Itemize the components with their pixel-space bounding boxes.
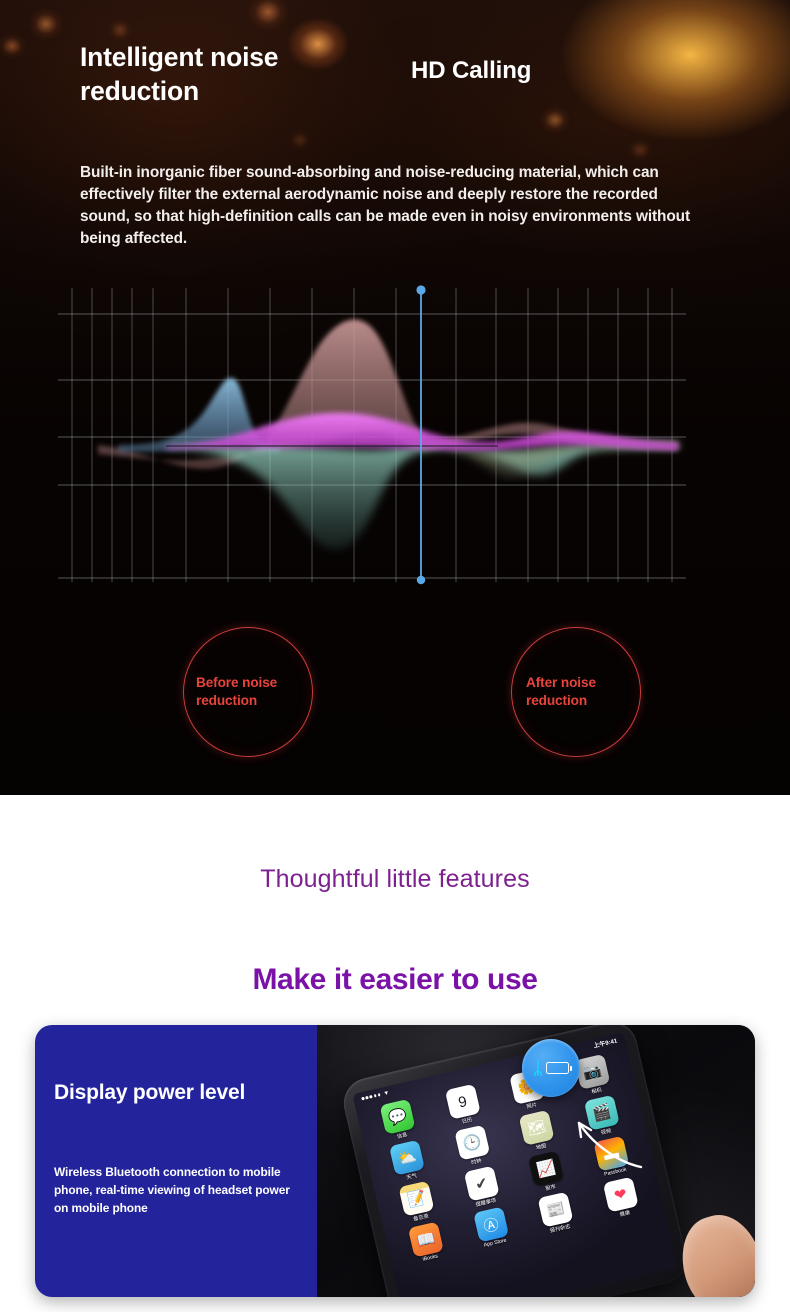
- after-noise-reduction-label: After noise reduction: [512, 674, 640, 710]
- after-noise-reduction-marker: After noise reduction: [511, 627, 641, 757]
- before-noise-reduction-label: Before noise reduction: [184, 674, 312, 710]
- app-label: 照片: [526, 1101, 538, 1110]
- hero-section: Intelligent noise reduction HD Calling B…: [0, 0, 790, 795]
- battery-icon: [546, 1062, 569, 1074]
- app-glyph-icon: ❤: [603, 1177, 639, 1213]
- features-heading-primary: Thoughtful little features: [0, 865, 790, 894]
- hero-title-right: HD Calling: [411, 57, 531, 85]
- app-label: 地图: [535, 1142, 547, 1151]
- app-glyph-icon: 📖: [408, 1222, 444, 1258]
- features-heading-secondary: Make it easier to use: [0, 963, 790, 997]
- pointer-arrow-icon: [555, 1103, 645, 1173]
- wifi-icon: ▾: [384, 1089, 389, 1096]
- bluetooth-battery-badge: ᛦ: [522, 1039, 580, 1097]
- app-label: 日历: [461, 1116, 473, 1125]
- feature-card-display-power-level: Display power level Wireless Bluetooth c…: [35, 1025, 755, 1297]
- app-glyph-icon: 9: [445, 1084, 481, 1120]
- app-label: 时钟: [471, 1157, 483, 1166]
- feature-card-title: Display power level: [54, 1081, 304, 1105]
- before-noise-reduction-marker: Before noise reduction: [183, 627, 313, 757]
- app-glyph-icon: 📝: [399, 1181, 435, 1217]
- app-glyph-icon: 🗺: [519, 1110, 555, 1146]
- hero-description: Built-in inorganic fiber sound-absorbing…: [80, 162, 705, 250]
- app-label: 天气: [406, 1172, 418, 1181]
- phone-app-icon[interactable]: 📰报刊杂志: [523, 1188, 590, 1239]
- app-label: 股市: [545, 1183, 557, 1192]
- product-page: Intelligent noise reduction HD Calling B…: [0, 0, 790, 1312]
- hero-title-left: Intelligent noise reduction: [80, 40, 380, 109]
- app-label: 健康: [619, 1209, 631, 1218]
- phone-app-icon[interactable]: ❤健康: [588, 1173, 655, 1224]
- app-glyph-icon: 💬: [380, 1099, 416, 1135]
- app-label: 信息: [396, 1131, 408, 1140]
- feature-card-photo: ▾ 上午9:41 💬信息9日历🌼照片📷相机⛅天气🕒时钟🗺地图🎬视频📝备忘录✔提醒…: [317, 1025, 755, 1297]
- app-label: 相机: [591, 1086, 603, 1095]
- app-glyph-icon: ⛅: [389, 1140, 425, 1176]
- phone-app-icon[interactable]: 📖iBooks: [393, 1218, 460, 1269]
- phone-app-icon[interactable]: ⒶApp Store: [458, 1203, 525, 1254]
- bluetooth-icon: ᛦ: [533, 1060, 543, 1077]
- feature-card-description: Wireless Bluetooth connection to mobile …: [54, 1163, 302, 1217]
- waveform-chart: [58, 282, 686, 590]
- app-glyph-icon: 🕒: [454, 1125, 490, 1161]
- feature-card-text-panel: Display power level Wireless Bluetooth c…: [35, 1025, 317, 1297]
